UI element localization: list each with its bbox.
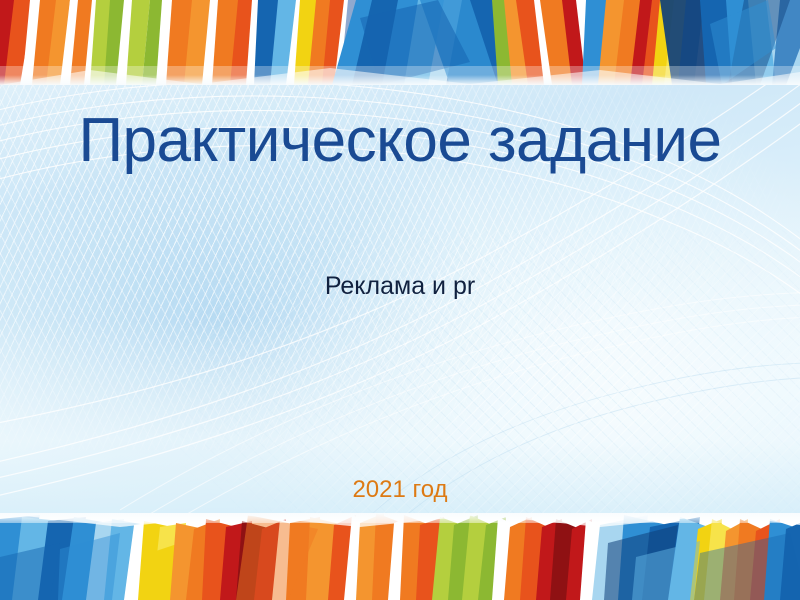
background-gradient-bottom xyxy=(0,320,800,540)
presentation-slide: Практическое задание Реклама и pr 2021 г… xyxy=(0,0,800,600)
slide-subtitle: Реклама и pr xyxy=(0,272,800,301)
abstract-color-shards-top xyxy=(0,0,800,85)
abstract-color-shards-bottom xyxy=(0,513,800,600)
decorative-border-bottom xyxy=(0,513,800,600)
band-fade-top xyxy=(0,75,800,85)
decorative-border-top xyxy=(0,0,800,85)
band-fade-bottom xyxy=(0,513,800,523)
slide-year: 2021 год xyxy=(0,476,800,504)
slide-title: Практическое задание xyxy=(0,108,800,173)
